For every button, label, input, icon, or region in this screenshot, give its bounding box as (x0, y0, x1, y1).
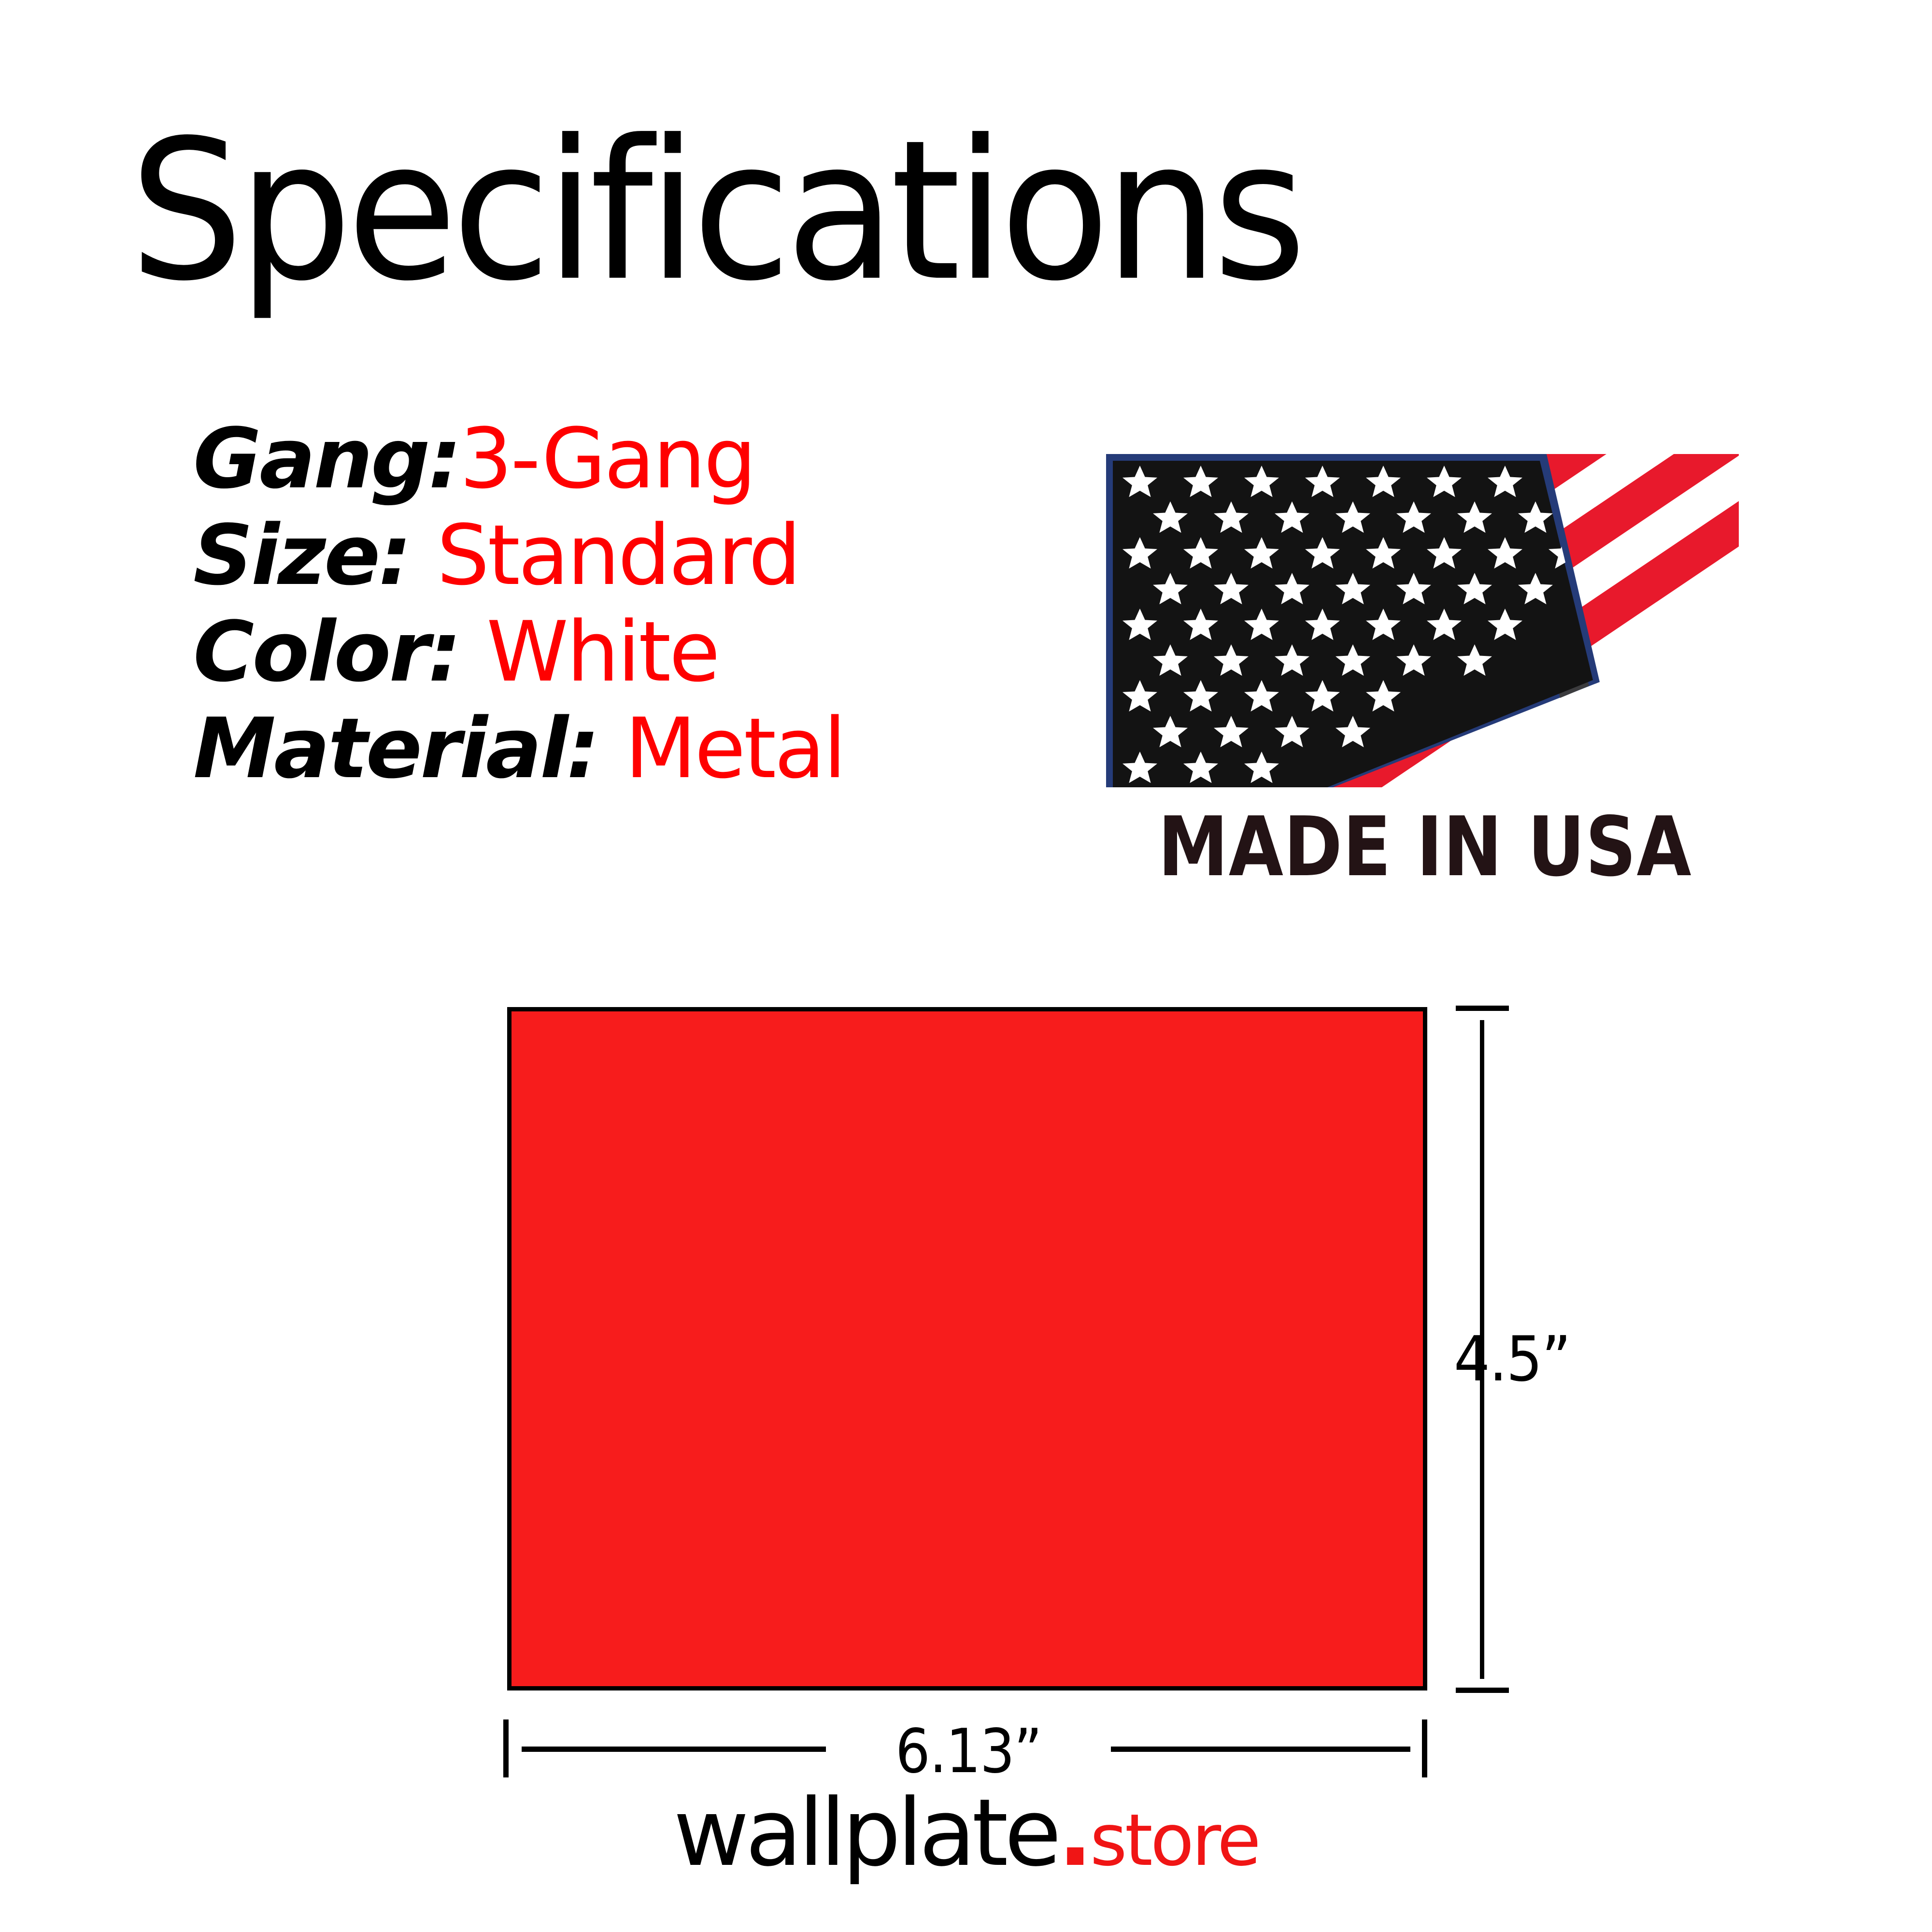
width-dimension-line-left (522, 1747, 826, 1752)
usa-flag-icon (1106, 454, 1739, 787)
usa-flag-svg (1106, 454, 1739, 787)
width-dimension-line-right (1111, 1747, 1410, 1752)
width-dimension-label: 6.13” (858, 1716, 1080, 1787)
wallplate-outline (507, 1007, 1427, 1690)
spec-row-color: Color: White (193, 604, 1063, 700)
spec-row-gang: Gang:3-Gang (193, 411, 1063, 507)
spec-label-material: Material: (193, 700, 625, 797)
specification-sheet: Specifications Gang:3-Gang Size: Standar… (0, 0, 1932, 1932)
brand-logo-primary: wallplate (673, 1779, 1058, 1887)
made-in-usa-badge: MADE IN USA (1106, 454, 1744, 889)
spec-row-size: Size: Standard (193, 507, 1063, 604)
made-in-usa-caption: MADE IN USA (1151, 806, 1699, 889)
spec-value-material: Metal (625, 700, 845, 797)
height-dimension-tick-top (1456, 1006, 1509, 1011)
width-dimension-tick-right (1422, 1719, 1427, 1777)
specifications-list: Gang:3-Gang Size: Standard Color: White … (193, 411, 1063, 797)
spec-value-size: Standard (437, 507, 799, 604)
brand-logo-secondary: store (1090, 1799, 1259, 1882)
spec-value-gang: 3-Gang (460, 410, 755, 507)
spec-label-size: Size: (193, 507, 437, 604)
spec-label-color: Color: (193, 603, 486, 700)
page-title: Specifications (129, 115, 1301, 308)
spec-row-material: Material: Metal (193, 700, 1063, 797)
height-dimension-tick-bottom (1456, 1688, 1509, 1693)
width-dimension-tick-left (503, 1719, 509, 1777)
brand-logo[interactable]: wallplate.store (0, 1787, 1932, 1880)
height-dimension-label: 4.5” (1454, 1323, 1570, 1395)
brand-logo-dot: . (1058, 1779, 1090, 1887)
spec-label-gang: Gang: (193, 410, 460, 507)
spec-value-color: White (486, 603, 718, 700)
